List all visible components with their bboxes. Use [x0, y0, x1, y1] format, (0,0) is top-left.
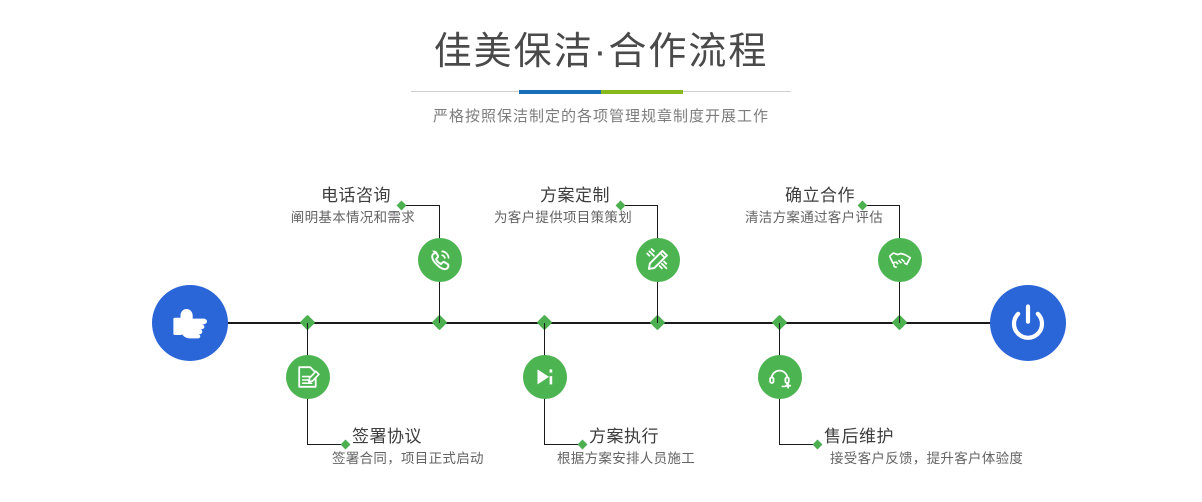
step-title: 确立合作: [745, 185, 855, 207]
node-icon-sign-agreement[interactable]: [286, 355, 330, 399]
step-title: 方案执行: [589, 426, 695, 448]
pencil-ruler-icon: [636, 247, 680, 273]
connector-horizontal-2: [401, 205, 440, 206]
power-icon: [990, 285, 1066, 344]
pointing-hand-icon: [152, 285, 228, 345]
step-desc: 根据方案安排人员施工: [557, 448, 695, 469]
document-edit-icon: [286, 364, 330, 390]
play-execute-icon: [523, 364, 567, 390]
step-title: 电话咨询: [291, 185, 391, 207]
node-icon-phone-consult[interactable]: [418, 238, 462, 282]
timeline-end-endpoint[interactable]: [990, 285, 1066, 361]
label-sign-agreement: 签署协议 签署合同，项目正式启动: [352, 426, 484, 469]
step-desc: 为客户提供项目策策划: [494, 207, 632, 228]
step-desc: 接受客户反馈，提升客户体验度: [830, 448, 1023, 469]
title-divider: [411, 88, 791, 96]
phone-call-icon: [418, 247, 462, 273]
divider-segment-blue: [519, 90, 601, 94]
page-header: 佳美保洁·合作流程 严格按照保洁制定的各项管理规章制度开展工作: [0, 28, 1202, 128]
step-title: 方案定制: [494, 185, 610, 207]
label-plan-execute: 方案执行 根据方案安排人员施工: [589, 426, 695, 469]
handshake-icon: [878, 247, 922, 273]
headset-support-icon: [758, 364, 802, 390]
connector-dot-5: [813, 440, 823, 450]
timeline-start-endpoint[interactable]: [152, 285, 228, 361]
page-title: 佳美保洁·合作流程: [0, 28, 1202, 76]
label-phone-consult: 电话咨询 阐明基本情况和需求: [291, 185, 391, 228]
step-title: 售后维护: [824, 426, 1023, 448]
node-icon-plan-execute[interactable]: [523, 355, 567, 399]
step-desc: 阐明基本情况和需求: [291, 207, 415, 228]
step-desc: 签署合同，项目正式启动: [332, 448, 484, 469]
flowchart-page: 佳美保洁·合作流程 严格按照保洁制定的各项管理规章制度开展工作: [0, 0, 1202, 502]
divider-segment-green: [601, 90, 683, 94]
page-subtitle: 严格按照保洁制定的各项管理规章制度开展工作: [0, 106, 1202, 128]
label-plan-customize: 方案定制 为客户提供项目策策划: [494, 185, 610, 228]
node-icon-after-sales[interactable]: [758, 355, 802, 399]
label-establish-cooperation: 确立合作 清洁方案通过客户评估: [745, 185, 855, 228]
node-icon-establish-cooperation[interactable]: [878, 238, 922, 282]
step-title: 签署协议: [352, 426, 484, 448]
node-icon-plan-customize[interactable]: [636, 238, 680, 282]
label-after-sales: 售后维护 接受客户反馈，提升客户体验度: [824, 426, 1023, 469]
step-desc: 清洁方案通过客户评估: [745, 207, 883, 228]
